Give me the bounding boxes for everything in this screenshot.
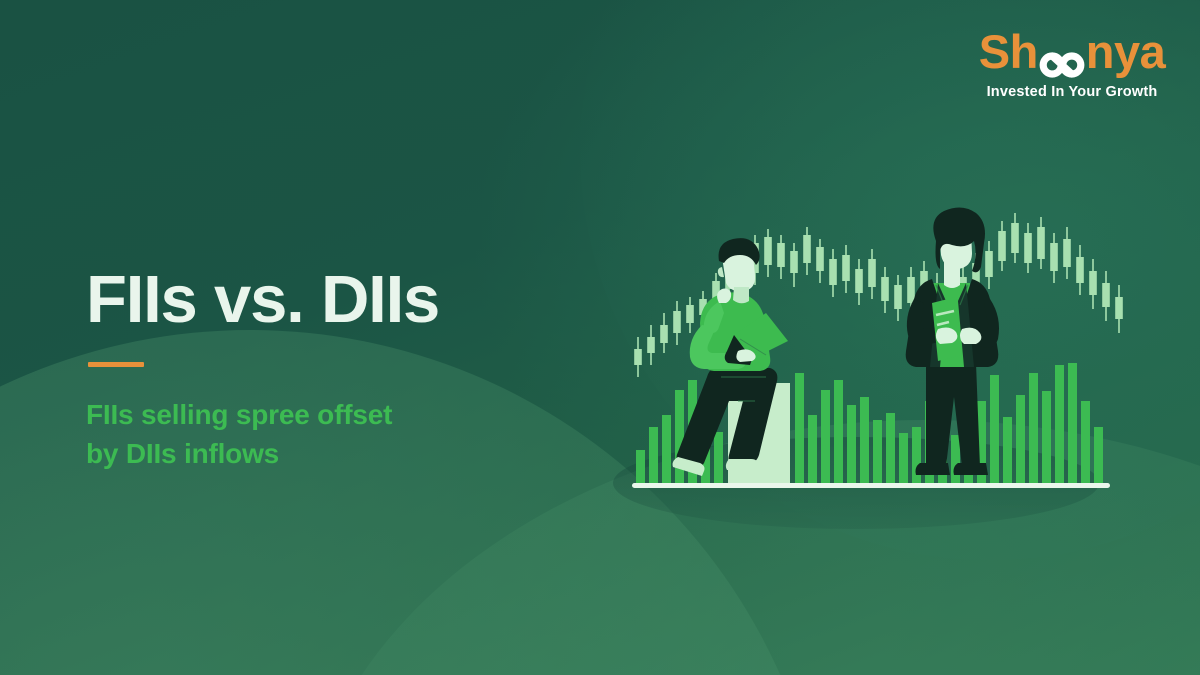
- page-subtitle-line2: by DIIs inflows: [86, 434, 566, 474]
- brand-name-part1: Sh: [979, 28, 1038, 75]
- brand-logo[interactable]: Sh nya Invested In Your Growth: [974, 28, 1170, 100]
- chart-baseline: [632, 483, 1110, 488]
- accent-divider: [88, 362, 144, 367]
- infinity-icon: [1039, 40, 1085, 70]
- brand-name-part2: nya: [1086, 28, 1166, 75]
- hero-copy-block: FIIs vs. DIIs FIIs selling spree offset …: [86, 265, 566, 474]
- page-title: FIIs vs. DIIs: [86, 265, 566, 335]
- page-subtitle: FIIs selling spree offset by DIIs inflow…: [86, 395, 566, 475]
- brand-tagline: Invested In Your Growth: [974, 84, 1170, 100]
- brand-wordmark: Sh nya: [974, 28, 1170, 75]
- fii-dii-market-illustration: [588, 205, 1118, 535]
- page-subtitle-line1: FIIs selling spree offset: [86, 395, 566, 435]
- poster-canvas: Sh nya Invested In Your Growth FIIs vs. …: [0, 0, 1200, 675]
